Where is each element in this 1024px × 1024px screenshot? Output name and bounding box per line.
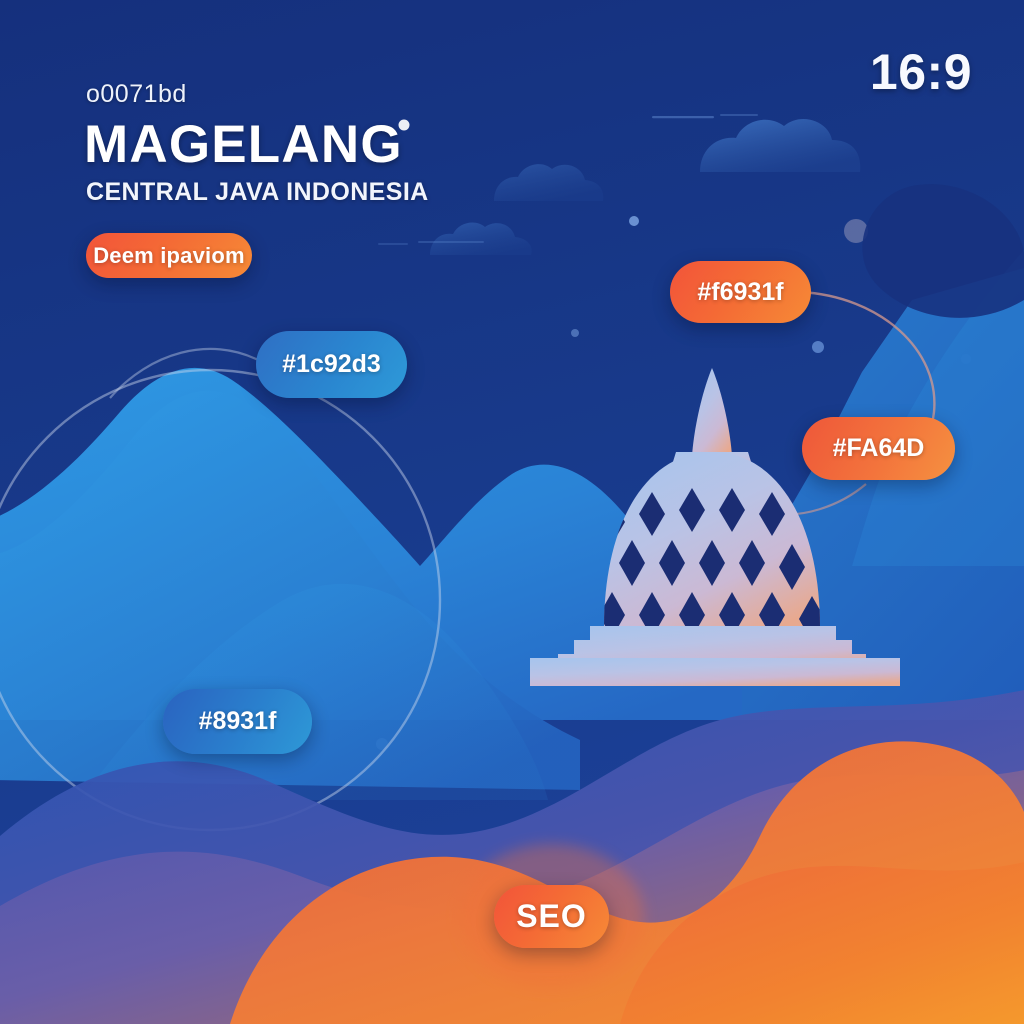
badge-f6931f[interactable]: #f6931f: [670, 261, 811, 323]
badge-label: SEO: [516, 898, 587, 935]
badge-1c92d3[interactable]: #1c92d3: [256, 331, 407, 398]
aspect-ratio-label: 16:9: [870, 43, 972, 101]
content-overlay: o0071bd MAGELANG CENTRAL JAVA INDONESIA …: [0, 0, 1024, 1024]
page-title: MAGELANG: [84, 118, 403, 171]
cta-button[interactable]: Deem ipaviom: [86, 233, 252, 278]
badge-fa64d[interactable]: #FA64D: [802, 417, 955, 480]
badge-seo[interactable]: SEO: [494, 885, 609, 948]
cta-label: Deem ipaviom: [93, 243, 245, 269]
poster-canvas: o0071bd MAGELANG CENTRAL JAVA INDONESIA …: [0, 0, 1024, 1024]
poster-subtitle: CENTRAL JAVA INDONESIA: [86, 178, 429, 207]
badge-label: #8931f: [199, 707, 277, 736]
badge-8931f[interactable]: #8931f: [163, 689, 312, 754]
badge-label: #1c92d3: [282, 350, 381, 379]
badge-label: #FA64D: [833, 434, 925, 463]
badge-label: #f6931f: [697, 278, 783, 307]
poster-kicker: o0071bd: [86, 80, 187, 109]
